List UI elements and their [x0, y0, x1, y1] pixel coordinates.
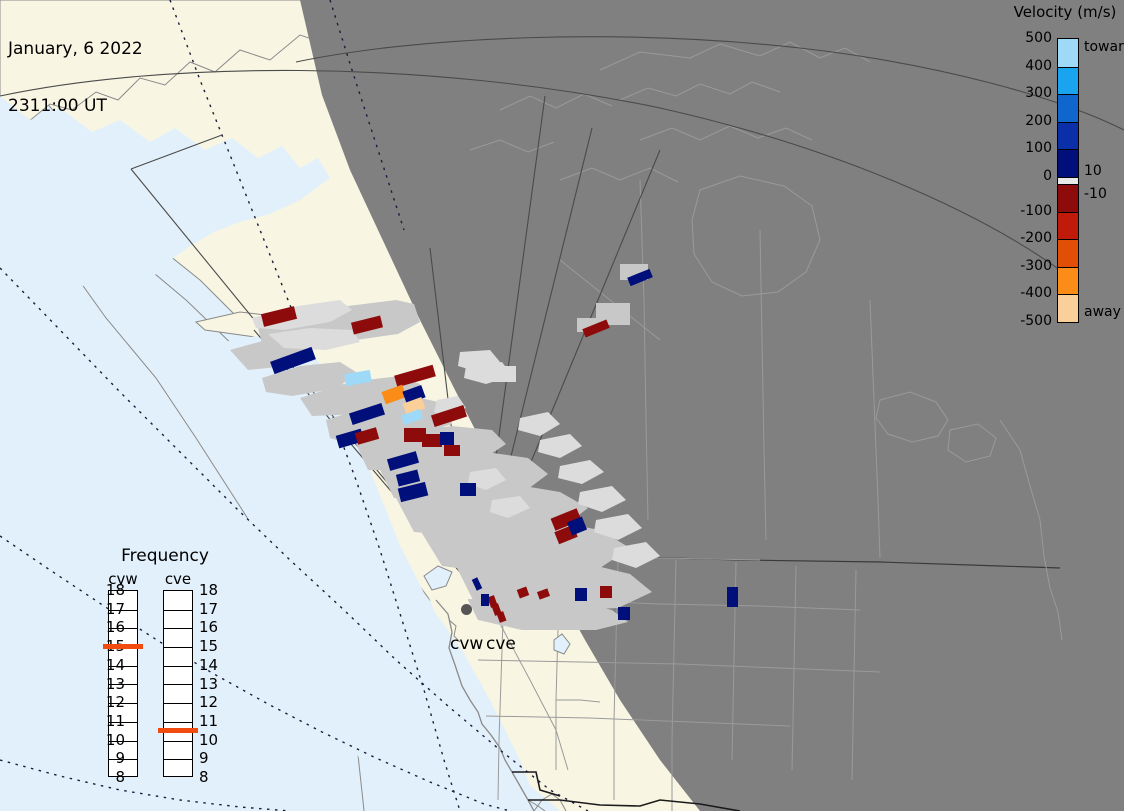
velocity-cell [618, 607, 630, 620]
frequency-tick-11-right: 11 [199, 712, 235, 730]
velocity-cell [575, 588, 587, 601]
frequency-tick-10-left: 10 [89, 731, 125, 749]
radar-map-figure: January, 6 2022 2311:00 UT cvw cve Veloc… [0, 0, 1124, 811]
timestamp-block: January, 6 2022 2311:00 UT [8, 2, 143, 154]
frequency-tick-17-right: 17 [199, 600, 235, 618]
colorbar-tick--100: -100 [1020, 203, 1052, 219]
velocity-cell [444, 445, 460, 456]
radar-site-marker [461, 604, 472, 615]
colorbar-tick-100: 100 [1025, 140, 1052, 156]
velocity-cell [627, 269, 653, 286]
frequency-tick-10-right: 10 [199, 731, 235, 749]
frequency-legend-title: Frequency [95, 546, 235, 566]
frequency-column-label-cve: cve [158, 570, 198, 588]
colorbar-tick-200: 200 [1025, 113, 1052, 129]
velocity-cell [431, 405, 467, 427]
frequency-cell [164, 647, 192, 666]
colorbar-title: Velocity (m/s) [1005, 3, 1124, 21]
colorbar-band-6 [1058, 184, 1078, 212]
colorbar-band-2 [1058, 94, 1078, 122]
frequency-tick-16-right: 16 [199, 618, 235, 636]
colorbar-tick--500: -500 [1020, 313, 1052, 329]
frequency-tick-18-right: 18 [199, 581, 235, 599]
frequency-cell [164, 741, 192, 760]
velocity-cell [472, 577, 483, 590]
colorbar-label-toward: toward [1084, 39, 1124, 55]
timestamp-time: 2311:00 UT [8, 97, 143, 116]
frequency-tick-16-left: 16 [89, 618, 125, 636]
frequency-cell [164, 703, 192, 722]
colorbar-bands [1057, 38, 1079, 323]
frequency-tick-12-left: 12 [89, 693, 125, 711]
frequency-cell [164, 628, 192, 647]
colorbar-band-0 [1058, 39, 1078, 67]
velocity-cell [460, 483, 476, 496]
colorbar-tick--300: -300 [1020, 258, 1052, 274]
colorbar-band-3 [1058, 122, 1078, 150]
frequency-cell [164, 759, 192, 778]
colorbar-label-neg-threshold: -10 [1084, 186, 1107, 202]
velocity-cell [537, 588, 550, 599]
velocity-cell [422, 434, 442, 447]
velocity-colorbar: Velocity (m/s) 5004003002001000-100-200-… [1010, 0, 1124, 340]
velocity-cell [351, 316, 383, 335]
frequency-tick-14-left: 14 [89, 656, 125, 674]
velocity-cell [401, 409, 423, 425]
colorbar-band-9 [1058, 267, 1078, 295]
frequency-column-cve [163, 590, 193, 777]
velocity-cell [349, 403, 385, 425]
velocity-cell [270, 347, 316, 374]
frequency-tick-18-left: 18 [89, 581, 125, 599]
frequency-tick-9-left: 9 [89, 749, 125, 767]
colorbar-tick--400: -400 [1020, 285, 1052, 301]
colorbar-band-10 [1058, 294, 1078, 322]
frequency-tick-12-right: 12 [199, 693, 235, 711]
colorbar-tick-400: 400 [1025, 58, 1052, 74]
colorbar-tick-300: 300 [1025, 85, 1052, 101]
frequency-tick-9-right: 9 [199, 749, 235, 767]
frequency-legend: Frequency cvw cve 1818171716161515141413… [95, 546, 235, 791]
site-label-cvw: cvw [450, 634, 483, 654]
velocity-cell [387, 451, 419, 471]
frequency-tick-13-right: 13 [199, 675, 235, 693]
colorbar-tick-0: 0 [1043, 168, 1052, 184]
frequency-marker-cvw [103, 644, 143, 649]
frequency-tick-8-right: 8 [199, 768, 235, 786]
frequency-tick-14-right: 14 [199, 656, 235, 674]
frequency-marker-cve [158, 728, 198, 733]
timestamp-date: January, 6 2022 [8, 40, 143, 59]
frequency-tick-8-left: 8 [89, 768, 125, 786]
velocity-cell [517, 587, 529, 599]
velocity-cell [600, 586, 612, 598]
frequency-tick-17-left: 17 [89, 600, 125, 618]
colorbar-band-7 [1058, 212, 1078, 240]
colorbar-label-pos-threshold: 10 [1084, 163, 1102, 179]
velocity-cell [727, 587, 738, 607]
velocity-cell [481, 594, 489, 606]
velocity-cell [497, 611, 507, 623]
velocity-cell [344, 370, 372, 386]
frequency-cell [164, 684, 192, 703]
colorbar-band-5 [1058, 177, 1078, 184]
velocity-cell [394, 365, 436, 388]
frequency-tick-11-left: 11 [89, 712, 125, 730]
colorbar-tick--200: -200 [1020, 230, 1052, 246]
frequency-tick-15-right: 15 [199, 637, 235, 655]
frequency-tick-13-left: 13 [89, 675, 125, 693]
frequency-cell [164, 591, 192, 610]
velocity-cell [582, 319, 609, 337]
site-label-cve: cve [486, 634, 516, 654]
colorbar-band-1 [1058, 67, 1078, 95]
colorbar-band-4 [1058, 149, 1078, 177]
frequency-cell [164, 666, 192, 685]
colorbar-band-8 [1058, 239, 1078, 267]
velocity-cell [440, 432, 454, 445]
velocity-cell [261, 306, 297, 327]
colorbar-tick-500: 500 [1025, 30, 1052, 46]
frequency-cell [164, 610, 192, 629]
colorbar-label-away: away [1084, 304, 1121, 320]
